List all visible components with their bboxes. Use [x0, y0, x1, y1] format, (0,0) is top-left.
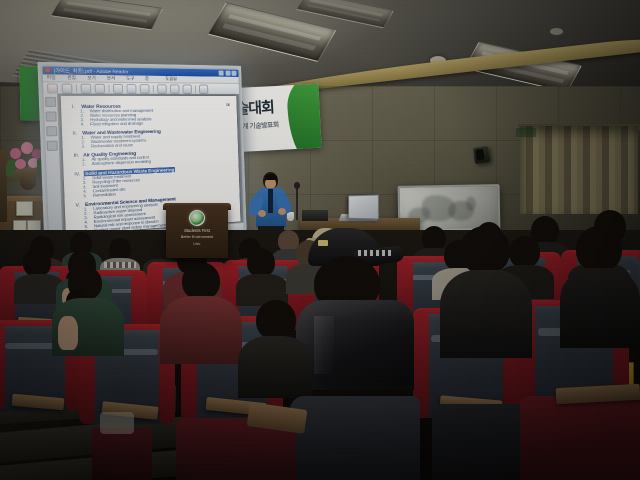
seat-front [92, 428, 152, 480]
cap-text [358, 250, 392, 256]
toc-section: II.Water and Wastewater Engineering7 1.W… [73, 127, 234, 149]
toc-sub-number: 3. [82, 144, 88, 149]
zoom-in-icon[interactable] [126, 84, 136, 94]
seat-front [520, 396, 640, 480]
auditorium-photo: 2 일시 술대회 춘계 기술발표회 [가이드_최종].pdf - Adobe R… [0, 0, 640, 480]
menu-item-window[interactable]: 창 [145, 76, 149, 82]
toc-section-number: IV. [74, 170, 80, 176]
bookmarks-icon[interactable] [45, 97, 56, 107]
seated-person-legs [290, 396, 420, 480]
podium-line-1: Students First [166, 228, 228, 233]
adobe-reader-icon [45, 68, 50, 73]
window-controls[interactable] [219, 71, 237, 76]
person-with-black-cap [296, 228, 414, 388]
toc-section-number: V. [75, 202, 81, 208]
zoom-out-icon[interactable] [140, 84, 150, 94]
audience-member [440, 226, 532, 356]
menu-item-tools[interactable]: 도구 [126, 76, 134, 83]
toc-sub-text: Atmospheric dispersion modeling [92, 160, 151, 167]
banner-right: 술대회 춘계 기술발표회 [230, 84, 321, 153]
podium: Students First Better Environment Univ. [166, 206, 228, 258]
microphone-stand [296, 186, 298, 220]
podium-line-2: Better Environment [166, 235, 228, 239]
menu-bar[interactable]: 파일 편집 보기 문서 도구 창 도움말 [43, 74, 239, 84]
banner-right-graphic [286, 84, 322, 153]
toc-section-number: II. [73, 130, 79, 136]
audience-member-maroon-shirt [160, 262, 242, 362]
toc-sub-text: Remediation [93, 192, 116, 198]
toc-sub-number: 5. [83, 193, 89, 198]
cap-logo [318, 240, 328, 246]
window-curtain [520, 126, 638, 214]
podium-line-3: Univ. [166, 242, 228, 246]
seated-person-legs [432, 404, 528, 480]
search-icon[interactable] [199, 85, 208, 94]
toc-sub-text: Flood mitigation and drainage [90, 121, 143, 126]
av-equipment-box [302, 210, 328, 221]
laptop-screen [348, 195, 379, 220]
print-icon[interactable] [61, 84, 72, 94]
email-icon[interactable] [94, 84, 105, 94]
toc-sub-text: Reclamation and reuse [91, 143, 133, 149]
seat-bolster-left [0, 322, 5, 411]
menu-item-help[interactable]: 도움말 [165, 76, 177, 82]
fit-page-icon[interactable] [182, 84, 192, 93]
exit-sign [516, 128, 536, 137]
toc-section-number: III. [74, 153, 80, 159]
save-icon[interactable] [80, 84, 91, 94]
audience-member [560, 226, 640, 346]
audience-member [236, 248, 288, 306]
menu-item-edit[interactable]: 편집 [67, 75, 76, 82]
menu-item-document[interactable]: 문서 [107, 76, 116, 83]
toc-section-number: I. [72, 104, 78, 110]
attachments-icon[interactable] [46, 126, 57, 136]
wall-speaker-icon [473, 146, 490, 164]
podium-emblem-icon [189, 210, 205, 226]
toc-sub-number: 2. [82, 162, 88, 167]
comments-icon[interactable] [47, 141, 58, 151]
shoe [100, 412, 134, 434]
open-file-icon[interactable] [47, 83, 58, 93]
light-switch-plate[interactable] [16, 201, 33, 216]
toc-section: I.Water Resources1 1.Water distribution … [72, 103, 234, 127]
toc-page-number: 24 [226, 103, 230, 107]
select-tool-icon[interactable] [113, 84, 123, 94]
toc-sub-number: 4. [81, 122, 87, 127]
previous-page-icon[interactable] [157, 84, 167, 94]
audience-member-green-shirt [52, 266, 124, 356]
audience-member [238, 300, 312, 396]
pages-thumbnail-icon[interactable] [45, 111, 56, 121]
menu-item-view[interactable]: 보기 [87, 75, 96, 82]
next-page-icon[interactable] [170, 84, 180, 93]
smoke-detector-icon [550, 28, 563, 35]
menu-item-file[interactable]: 파일 [47, 75, 56, 82]
